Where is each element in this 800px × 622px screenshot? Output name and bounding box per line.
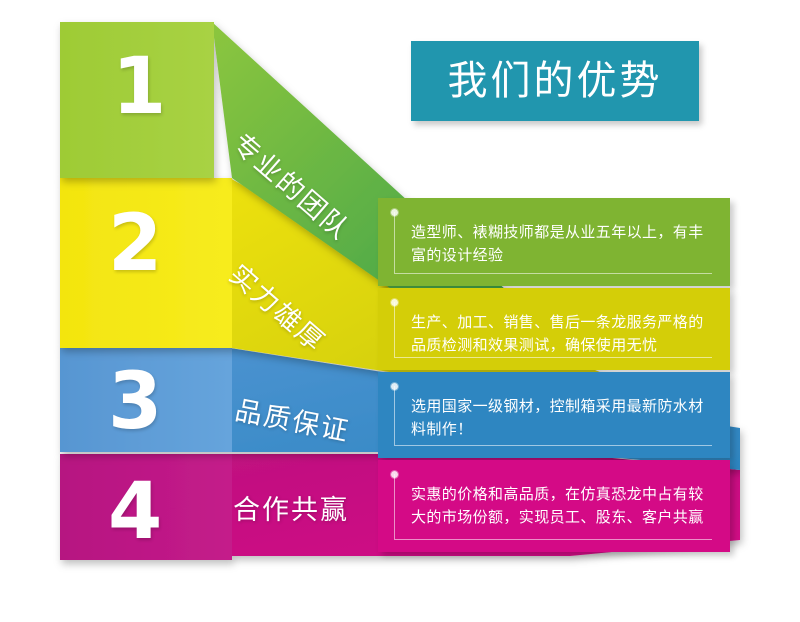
step-number-2: 2 — [108, 205, 162, 283]
description-panel-2: 生产、加工、销售、售后一条龙服务严格的品质检测和效果测试，确保使用无忧 — [378, 288, 730, 370]
description-text-1: 造型师、裱糊技师都是从业五年以上，有丰富的设计经验 — [411, 221, 708, 268]
description-text-2: 生产、加工、销售、售后一条龙服务严格的品质检测和效果测试，确保使用无忧 — [411, 311, 708, 358]
step-number-3: 3 — [108, 363, 162, 441]
infographic-canvas: 我们的优势 1 2 3 4 专业的团队 实力雄厚 品质保证 合作共赢 造型师、裱… — [0, 0, 800, 622]
description-panel-1: 造型师、裱糊技师都是从业五年以上，有丰富的设计经验 — [378, 198, 730, 286]
step-caption-4: 合作共赢 — [233, 488, 349, 527]
description-text-3: 选用国家一级钢材，控制箱采用最新防水材料制作！ — [411, 395, 708, 442]
description-panel-3: 选用国家一级钢材，控制箱采用最新防水材料制作！ — [378, 372, 730, 458]
headline-text: 我们的优势 — [448, 61, 663, 101]
step-number-4: 4 — [108, 473, 162, 551]
step-number-1: 1 — [112, 48, 166, 126]
description-panel-4: 实惠的价格和高品质，在仿真恐龙中占有较大的市场份额，实现员工、股东、客户共赢 — [378, 460, 730, 552]
headline-badge: 我们的优势 — [411, 41, 699, 121]
description-text-4: 实惠的价格和高品质，在仿真恐龙中占有较大的市场份额，实现员工、股东、客户共赢 — [411, 483, 708, 530]
